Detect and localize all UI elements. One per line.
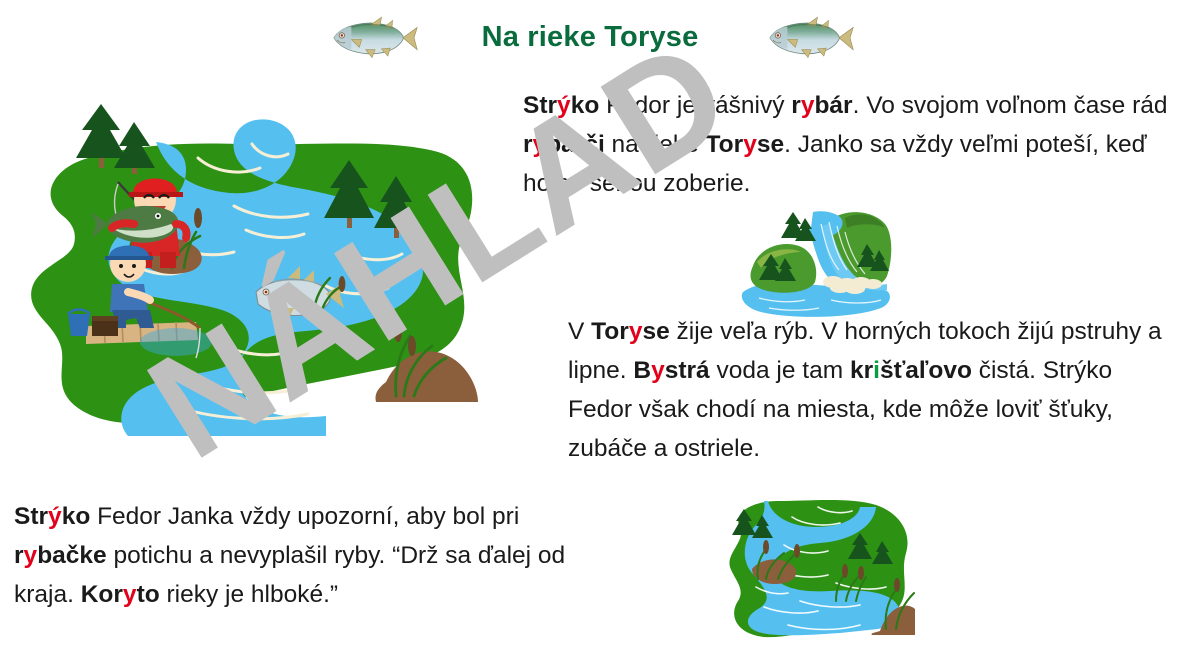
- highlighted-letter-red: y: [533, 131, 547, 158]
- paragraph-1: Strýko Fedor je vášnivý rybár. Vo svojom…: [523, 86, 1168, 203]
- bold-text-run: Str: [14, 503, 48, 530]
- bold-text-run: se: [757, 131, 784, 158]
- page-title: Na rieke Toryse: [482, 21, 699, 54]
- text-run: voda je tam: [710, 357, 850, 384]
- bold-text-run: ko: [571, 92, 600, 119]
- text-run: rieky je hlboké.”: [160, 581, 338, 608]
- text-run: Fedor je vášnivý: [599, 92, 791, 119]
- fish-left-icon: [324, 14, 420, 60]
- highlighted-letter-red: ý: [48, 503, 62, 530]
- bold-text-run: r: [523, 131, 533, 158]
- river-scene-small-illustration: [700, 483, 915, 648]
- highlighted-letter-red: ý: [557, 92, 571, 119]
- worksheet-page: Na rieke Toryse: [0, 0, 1179, 662]
- paragraph-3: Strýko Fedor Janka vždy upozorní, aby bo…: [14, 497, 574, 614]
- bold-text-run: bačke: [37, 542, 106, 569]
- highlighted-letter-red: y: [123, 581, 137, 608]
- paragraph-2: V Toryse žije veľa rýb. V horných tokoch…: [568, 312, 1168, 468]
- text-run: . Vo svojom voľnom čase rád: [853, 92, 1168, 119]
- text-run: Fedor Janka vždy upozorní, aby bol pri: [90, 503, 519, 530]
- bold-text-run: to: [137, 581, 160, 608]
- waterfall-scene-illustration: [735, 196, 895, 326]
- bold-text-run: B: [633, 357, 651, 384]
- bold-text-run: kr: [850, 357, 873, 384]
- title-row: Na rieke Toryse: [280, 6, 900, 68]
- bold-text-run: šťaľovo: [880, 357, 972, 384]
- bold-text-run: r: [14, 542, 24, 569]
- bold-text-run: bárči: [546, 131, 605, 158]
- bold-text-run: Tor: [591, 318, 629, 345]
- highlighted-letter-red: y: [743, 131, 757, 158]
- bold-text-run: se: [642, 318, 669, 345]
- text-run: na rieke: [605, 131, 706, 158]
- bold-text-run: Kor: [81, 581, 123, 608]
- bold-text-run: strá: [665, 357, 710, 384]
- river-scene-main-illustration: [8, 96, 478, 436]
- highlighted-letter-red: y: [801, 92, 815, 119]
- bold-text-run: Tor: [706, 131, 744, 158]
- highlighted-letter-green: i: [873, 357, 880, 384]
- highlighted-letter-red: y: [629, 318, 643, 345]
- bold-text-run: bár: [814, 92, 852, 119]
- bold-text-run: r: [791, 92, 801, 119]
- bold-text-run: Str: [523, 92, 557, 119]
- highlighted-letter-red: y: [24, 542, 38, 569]
- highlighted-letter-red: y: [651, 357, 665, 384]
- text-run: V: [568, 318, 591, 345]
- bold-text-run: ko: [62, 503, 91, 530]
- fish-right-icon: [760, 14, 856, 60]
